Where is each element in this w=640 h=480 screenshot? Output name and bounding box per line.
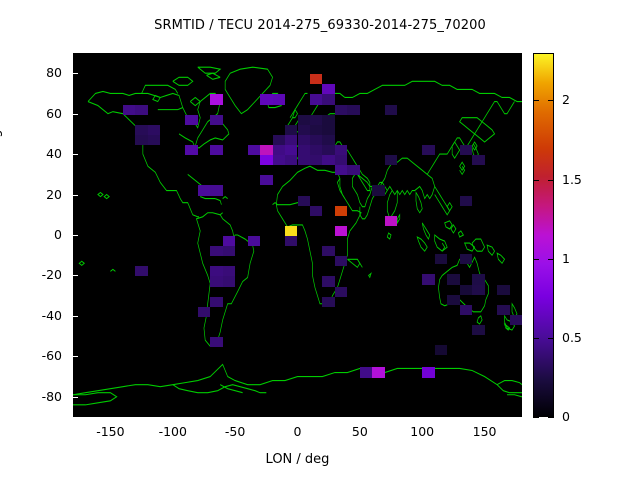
data-cell — [460, 196, 472, 206]
data-cell — [472, 285, 484, 295]
data-cell — [385, 216, 397, 226]
data-cell — [347, 105, 359, 115]
data-cell — [223, 246, 235, 256]
data-cell — [460, 285, 472, 295]
data-cell — [135, 266, 147, 276]
data-cell — [273, 94, 285, 104]
data-cell — [310, 94, 322, 104]
data-cell — [148, 135, 160, 145]
data-cell — [135, 105, 147, 115]
x-tick-label: -50 — [205, 424, 265, 439]
y-tick-label: 60 — [0, 106, 62, 121]
data-cell — [285, 125, 297, 135]
data-cell — [335, 165, 347, 175]
data-cell — [210, 246, 222, 256]
colorbar-tick — [533, 100, 539, 101]
data-cell — [210, 276, 222, 286]
y-tick-label: 40 — [0, 146, 62, 161]
colorbar-tick — [548, 417, 554, 418]
y-axis-tick — [73, 235, 78, 236]
data-cell — [285, 145, 297, 155]
data-cell — [185, 145, 197, 155]
data-cell — [298, 145, 310, 155]
colorbar-tick-label: 0.5 — [562, 330, 582, 345]
data-cell — [210, 185, 222, 195]
y-axis-label: LAT / deg — [0, 129, 3, 190]
data-cell — [335, 226, 347, 236]
data-cell — [335, 105, 347, 115]
data-cell — [360, 367, 372, 377]
data-cell — [322, 246, 334, 256]
data-cell — [322, 276, 334, 286]
data-cell — [285, 236, 297, 246]
data-cell — [148, 125, 160, 135]
data-cell — [497, 285, 509, 295]
data-cell — [310, 155, 322, 165]
data-cell — [322, 297, 334, 307]
y-axis-tick — [73, 114, 78, 115]
data-cell — [322, 84, 334, 94]
data-cell — [285, 135, 297, 145]
data-cell — [310, 145, 322, 155]
y-axis-tick — [73, 316, 78, 317]
data-cell — [310, 115, 322, 125]
colorbar-tick — [548, 259, 554, 260]
data-cell — [447, 274, 459, 284]
x-tick-label: 100 — [392, 424, 452, 439]
y-tick-label: 20 — [0, 187, 62, 202]
data-cell — [298, 135, 310, 145]
colorbar-tick-label: 1 — [562, 251, 570, 266]
colorbar — [533, 53, 554, 417]
data-cell — [510, 315, 522, 325]
data-cell — [372, 367, 384, 377]
data-cell — [248, 145, 260, 155]
data-cell — [273, 135, 285, 145]
data-cell — [135, 125, 147, 135]
data-cell — [460, 254, 472, 264]
y-tick-label: 0 — [0, 227, 62, 242]
data-cell — [298, 196, 310, 206]
data-cell — [210, 266, 222, 276]
data-cell — [223, 276, 235, 286]
data-cell — [185, 115, 197, 125]
data-cell — [210, 297, 222, 307]
data-cell — [135, 135, 147, 145]
data-cell — [285, 226, 297, 236]
data-cell — [497, 305, 509, 315]
data-cell — [310, 206, 322, 216]
data-cell — [198, 307, 210, 317]
data-cell — [248, 236, 260, 246]
data-cell — [322, 115, 334, 125]
data-cell — [210, 145, 222, 155]
y-tick-label: -60 — [0, 348, 62, 363]
data-cell — [472, 155, 484, 165]
data-cell — [335, 206, 347, 216]
data-cell — [198, 185, 210, 195]
data-cell — [472, 274, 484, 284]
data-cell — [322, 155, 334, 165]
data-cell — [335, 145, 347, 155]
data-cell — [422, 145, 434, 155]
data-cell — [298, 125, 310, 135]
colorbar-tick-label: 2 — [562, 92, 570, 107]
y-tick-label: -40 — [0, 308, 62, 323]
data-cell — [285, 155, 297, 165]
data-cell — [422, 274, 434, 284]
x-tick-label: 50 — [330, 424, 390, 439]
data-cell — [310, 74, 322, 84]
data-cell — [385, 155, 397, 165]
data-cell — [435, 254, 447, 264]
data-cell-layer — [73, 53, 522, 417]
x-tick-label: -150 — [80, 424, 140, 439]
chart-title: SRMTID / TECU 2014-275_69330-2014-275_70… — [0, 18, 640, 33]
plot-window: SRMTID / TECU 2014-275_69330-2014-275_70… — [0, 0, 640, 480]
y-tick-label: -20 — [0, 267, 62, 282]
y-tick-label: -80 — [0, 389, 62, 404]
colorbar-tick-label: 1.5 — [562, 172, 582, 187]
x-tick-label: -100 — [143, 424, 203, 439]
data-cell — [322, 145, 334, 155]
data-cell — [460, 145, 472, 155]
data-cell — [460, 305, 472, 315]
data-cell — [123, 105, 135, 115]
data-cell — [322, 135, 334, 145]
data-cell — [223, 266, 235, 276]
data-cell — [335, 287, 347, 297]
data-cell — [210, 337, 222, 347]
colorbar-gradient — [534, 54, 553, 416]
y-axis-tick — [73, 154, 78, 155]
colorbar-tick — [533, 417, 539, 418]
data-cell — [210, 115, 222, 125]
data-cell — [260, 145, 272, 155]
data-cell — [322, 125, 334, 135]
colorbar-tick — [533, 180, 539, 181]
data-cell — [260, 175, 272, 185]
x-tick-label: 0 — [268, 424, 328, 439]
data-cell — [260, 155, 272, 165]
data-cell — [322, 94, 334, 104]
y-axis-tick — [73, 275, 78, 276]
colorbar-tick — [548, 338, 554, 339]
data-cell — [335, 155, 347, 165]
data-cell — [310, 135, 322, 145]
y-axis-tick — [73, 397, 78, 398]
map-plot-area — [73, 53, 522, 417]
data-cell — [298, 155, 310, 165]
colorbar-tick — [533, 338, 539, 339]
data-cell — [260, 94, 272, 104]
colorbar-tick-label: 0 — [562, 409, 570, 424]
data-cell — [422, 367, 434, 377]
data-cell — [310, 125, 322, 135]
colorbar-tick — [548, 180, 554, 181]
data-cell — [372, 185, 384, 195]
data-cell — [273, 155, 285, 165]
data-cell — [273, 145, 285, 155]
x-tick-label: 150 — [455, 424, 515, 439]
y-axis-tick — [73, 195, 78, 196]
data-cell — [447, 295, 459, 305]
x-axis-label: LON / deg — [73, 452, 522, 467]
y-axis-tick — [73, 73, 78, 74]
data-cell — [223, 236, 235, 246]
data-cell — [298, 115, 310, 125]
data-cell — [335, 256, 347, 266]
data-cell — [210, 94, 222, 104]
y-tick-label: 80 — [0, 65, 62, 80]
data-cell — [435, 345, 447, 355]
data-cell — [385, 105, 397, 115]
y-axis-tick — [73, 356, 78, 357]
colorbar-tick — [548, 100, 554, 101]
colorbar-tick — [533, 259, 539, 260]
data-cell — [472, 325, 484, 335]
data-cell — [347, 165, 359, 175]
